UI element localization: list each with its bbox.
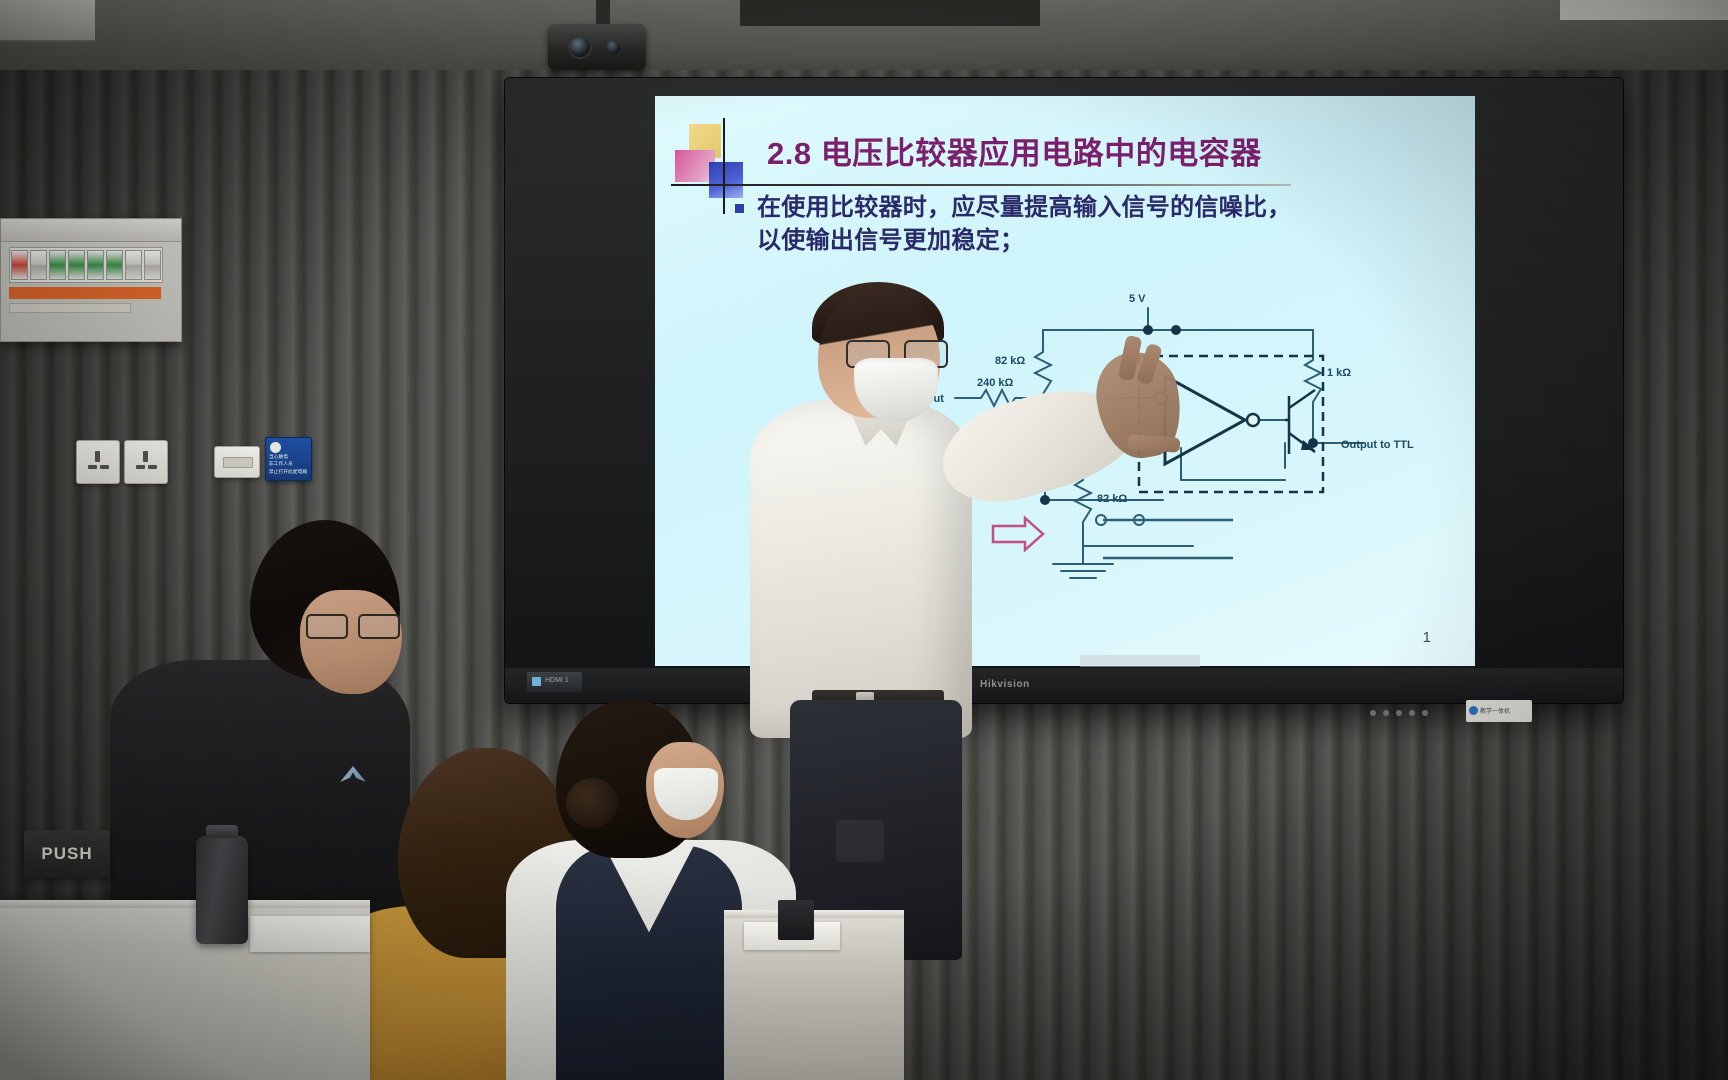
electrical-distribution-box — [0, 218, 182, 342]
panel-warning-strip — [9, 287, 161, 299]
ceiling-camera — [548, 24, 646, 70]
ceiling-beam — [740, 0, 1040, 26]
paper-sheet — [250, 916, 370, 952]
breaker-switch — [106, 250, 123, 280]
display-side-label-text: 教学一体机 — [1480, 706, 1510, 715]
breaker-switch — [11, 250, 28, 280]
breaker-switch — [49, 250, 66, 280]
device-on-desk — [778, 900, 814, 940]
breaker-row — [9, 247, 163, 283]
source-badge-label: HDMI 1 — [545, 677, 569, 684]
sign-text-line-1: 当心触电 — [269, 454, 308, 460]
bottle-cap — [206, 825, 238, 838]
sign-text-line-2: 非工作人员 — [269, 461, 308, 467]
label-r-output: 1 kΩ — [1327, 367, 1351, 379]
comparator-output-node — [1247, 414, 1259, 426]
control-button[interactable] — [1383, 710, 1389, 716]
panel-label-strip — [9, 303, 131, 313]
deco-line-vertical — [723, 118, 725, 214]
desk-edge — [0, 900, 370, 908]
camera-lens-icon — [570, 37, 590, 57]
wall-switch-plate — [214, 446, 260, 478]
camera-mount — [596, 0, 610, 26]
socket-hole — [136, 465, 145, 469]
student-glasses — [306, 614, 398, 636]
water-bottle — [196, 836, 248, 944]
breaker-switch — [144, 250, 161, 280]
display-bezel-bottom — [505, 668, 1623, 703]
label-output: Output to TTL — [1341, 439, 1414, 451]
annotation-arrow-icon — [993, 518, 1043, 550]
socket-hole — [88, 465, 97, 469]
wall-socket-right — [124, 440, 168, 484]
resistor-82k-pullup-symbol — [1035, 352, 1051, 394]
push-plate-label: PUSH — [24, 844, 110, 864]
socket-hole — [148, 465, 157, 469]
switch-rocker[interactable] — [223, 457, 253, 468]
warning-icon — [270, 442, 281, 453]
deco-square-blue — [709, 162, 743, 198]
sign-text-line-3: 禁止打开此配电箱 — [269, 469, 308, 475]
screenshot-root: 当心触电 非工作人员 禁止打开此配电箱 2.8 电压比较器应用电路中的电容器 在… — [0, 0, 1728, 1080]
camera-lens-secondary-icon — [606, 40, 620, 54]
label-supply: 5 V — [1129, 293, 1146, 305]
slide-title: 2.8 电压比较器应用电路中的电容器 — [767, 128, 1262, 173]
socket-hole — [100, 465, 109, 469]
control-button[interactable] — [1396, 710, 1402, 716]
slide-body-line-2: 以使输出信号更加稳定； — [757, 224, 1417, 257]
socket-hole — [143, 451, 148, 462]
wall-socket-left — [76, 440, 120, 484]
label-r-input: 240 kΩ — [977, 377, 1014, 389]
control-button[interactable] — [1370, 710, 1376, 716]
lower-bars — [1103, 520, 1233, 558]
control-button[interactable] — [1409, 710, 1415, 716]
student-face — [300, 590, 402, 694]
source-icon — [532, 677, 541, 686]
push-plate: PUSH — [24, 830, 110, 878]
deco-line-horizontal — [671, 184, 1291, 186]
breaker-switch — [68, 250, 85, 280]
slide-body-line-1: 在使用比较器时，应尽量提高输入信号的信噪比， — [757, 191, 1417, 224]
label-icon — [1469, 706, 1478, 715]
breaker-switch — [125, 250, 142, 280]
label-r-divider-bottom: 82 kΩ — [1097, 493, 1127, 505]
electrical-warning-sign: 当心触电 非工作人员 禁止打开此配电箱 — [265, 437, 312, 481]
student-hair-bun — [566, 778, 618, 828]
label-r-pullup: 82 kΩ — [995, 355, 1025, 367]
display-side-label: 教学一体机 — [1466, 700, 1532, 722]
panel-top-cover — [1, 219, 181, 242]
display-brand-label: Hikvision — [980, 679, 1030, 690]
lecturer-pocket — [836, 820, 884, 862]
control-button[interactable] — [1422, 710, 1428, 716]
breaker-switch — [87, 250, 104, 280]
slide-decoration — [673, 122, 741, 190]
bullet-marker-icon — [735, 204, 744, 213]
slide-body-text: 在使用比较器时，应尽量提高输入信号的信噪比， 以使输出信号更加稳定； — [757, 191, 1417, 257]
display-source-badge[interactable]: HDMI 1 — [527, 672, 582, 692]
lecturer-shirt — [750, 398, 972, 738]
ceiling-panel — [0, 0, 95, 42]
slide-page-number: 1 — [1423, 629, 1431, 646]
desk-edge — [724, 910, 904, 918]
socket-hole — [95, 451, 100, 462]
display-bottom-strip — [1080, 655, 1200, 667]
breaker-switch — [30, 250, 47, 280]
ceiling-panel-right — [1560, 0, 1728, 20]
